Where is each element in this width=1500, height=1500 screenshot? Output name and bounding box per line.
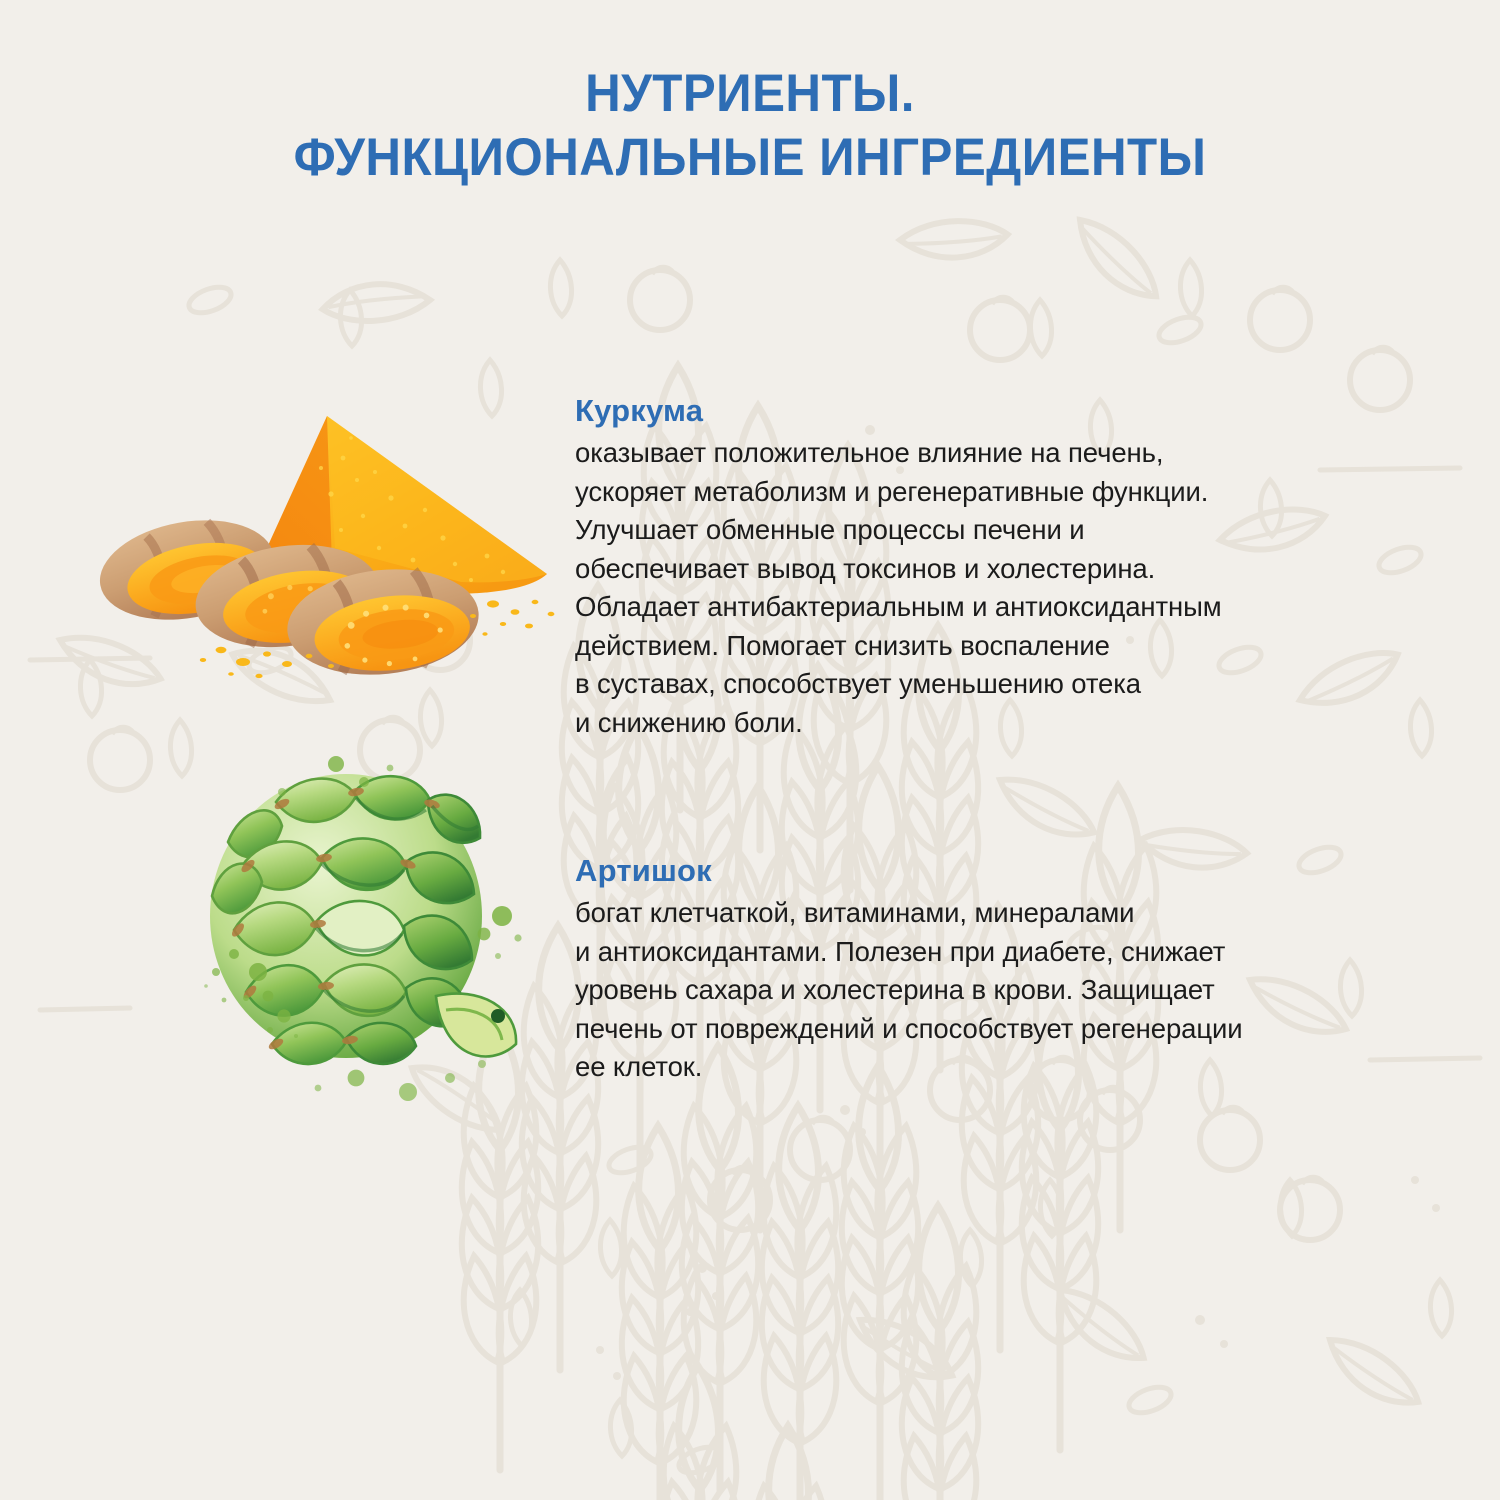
- section-turmeric: Куркума оказывает положительное влияние …: [575, 392, 1365, 742]
- section-turmeric-body: оказывает положительное влияние на печен…: [575, 434, 1365, 742]
- poster-canvas: НУТРИЕНТЫ. ФУНКЦИОНАЛЬНЫЕ ИНГРЕДИЕНТЫ: [0, 0, 1500, 1500]
- section-artichoke: Артишок богат клетчаткой, витаминами, ми…: [575, 852, 1365, 1087]
- turmeric-illustration: [95, 398, 575, 698]
- section-artichoke-heading: Артишок: [575, 852, 1365, 890]
- title-line-2: ФУНКЦИОНАЛЬНЫЕ ИНГРЕДИЕНТЫ: [53, 126, 1448, 190]
- artichoke-head: [210, 774, 516, 1064]
- title-line-1: НУТРИЕНТЫ.: [53, 62, 1448, 126]
- artichoke-side-bract: [436, 994, 516, 1057]
- section-artichoke-body: богат клетчаткой, витаминами, минералами…: [575, 894, 1365, 1087]
- artichoke-illustration: [150, 748, 580, 1108]
- section-turmeric-heading: Куркума: [575, 392, 1365, 430]
- page-title: НУТРИЕНТЫ. ФУНКЦИОНАЛЬНЫЕ ИНГРЕДИЕНТЫ: [0, 62, 1500, 190]
